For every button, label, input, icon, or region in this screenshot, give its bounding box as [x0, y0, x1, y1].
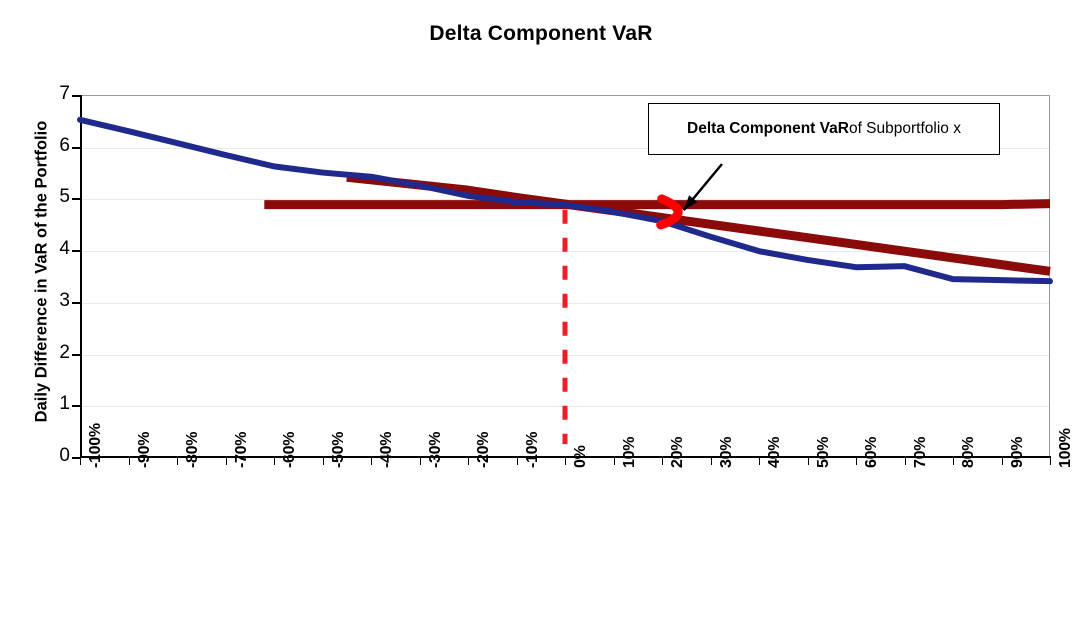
x-axis-tick-label: 100% — [1057, 428, 1075, 468]
x-axis-tick-label: -40% — [378, 432, 396, 468]
x-axis-tick — [1050, 458, 1051, 465]
y-axis-tick-label: 1 — [36, 393, 70, 415]
y-axis-tick-label: 5 — [36, 186, 70, 208]
x-axis-tick-label: 40% — [766, 437, 784, 468]
y-axis-line — [80, 95, 82, 458]
x-axis-tick — [662, 458, 663, 465]
x-axis-tick-label: 20% — [669, 437, 687, 468]
x-axis-tick — [711, 458, 712, 465]
x-axis-tick-label: -30% — [427, 432, 445, 468]
y-axis-tick-label: 2 — [36, 342, 70, 364]
x-axis-tick — [420, 458, 421, 465]
x-axis-tick-label: 50% — [815, 437, 833, 468]
x-axis-tick — [517, 458, 518, 465]
x-axis-tick-label: -90% — [136, 432, 154, 468]
y-axis-tick — [72, 198, 81, 200]
y-axis-tick — [72, 95, 81, 97]
x-axis-tick — [468, 458, 469, 465]
x-axis-tick — [614, 458, 615, 465]
x-axis-tick — [856, 458, 857, 465]
y-axis-tick — [72, 354, 81, 356]
callout-text-regular: of Subportfolio x — [849, 120, 961, 138]
page-title: Delta Component VaR — [0, 22, 1082, 46]
y-axis-tick-label: 0 — [36, 445, 70, 467]
y-axis-tick — [72, 302, 81, 304]
x-axis-tick-label: -60% — [281, 432, 299, 468]
x-axis-tick — [177, 458, 178, 465]
x-axis-tick — [759, 458, 760, 465]
x-axis-tick — [953, 458, 954, 465]
y-axis-tick — [72, 405, 81, 407]
x-axis-tick-label: -80% — [184, 432, 202, 468]
x-axis-tick — [371, 458, 372, 465]
callout-text-bold: Delta Component VaR — [687, 120, 849, 138]
y-axis-tick-label: 7 — [36, 83, 70, 105]
x-axis-tick — [226, 458, 227, 465]
callout-label-delta-component-var: Delta Component VaR of Subportfolio x — [648, 103, 1000, 155]
x-axis-tick — [323, 458, 324, 465]
y-axis-tick-label: 6 — [36, 135, 70, 157]
y-axis-tick — [72, 250, 81, 252]
x-axis-tick-label: 80% — [960, 437, 978, 468]
gridline — [80, 355, 1049, 356]
x-axis-tick — [80, 458, 81, 465]
gridline — [80, 303, 1049, 304]
x-axis-tick-label: -20% — [475, 432, 493, 468]
gridline — [80, 406, 1049, 407]
y-axis-tick — [72, 147, 81, 149]
x-axis-tick-label: 90% — [1009, 437, 1027, 468]
x-axis-tick-label: 60% — [863, 437, 881, 468]
y-axis-labels: 7 6 5 4 3 2 1 0 — [26, 0, 70, 640]
gridline — [80, 199, 1049, 200]
x-axis-tick-label: 10% — [621, 437, 639, 468]
y-axis-tick-label: 3 — [36, 290, 70, 312]
x-axis-tick-label: -10% — [524, 432, 542, 468]
x-axis-tick — [1002, 458, 1003, 465]
x-axis-tick — [808, 458, 809, 465]
y-axis-tick-label: 4 — [36, 238, 70, 260]
x-axis-tick-label: -100% — [87, 423, 105, 468]
x-axis-tick-label: 0% — [572, 445, 590, 468]
x-axis-tick — [905, 458, 906, 465]
x-axis-tick-label: -50% — [330, 432, 348, 468]
x-axis-tick-label: -70% — [233, 432, 251, 468]
x-axis-tick-label: 30% — [718, 437, 736, 468]
x-axis-tick — [129, 458, 130, 465]
x-axis-tick — [565, 458, 566, 465]
x-axis-tick — [274, 458, 275, 465]
gridline — [80, 251, 1049, 252]
x-axis-tick-label: 70% — [912, 437, 930, 468]
